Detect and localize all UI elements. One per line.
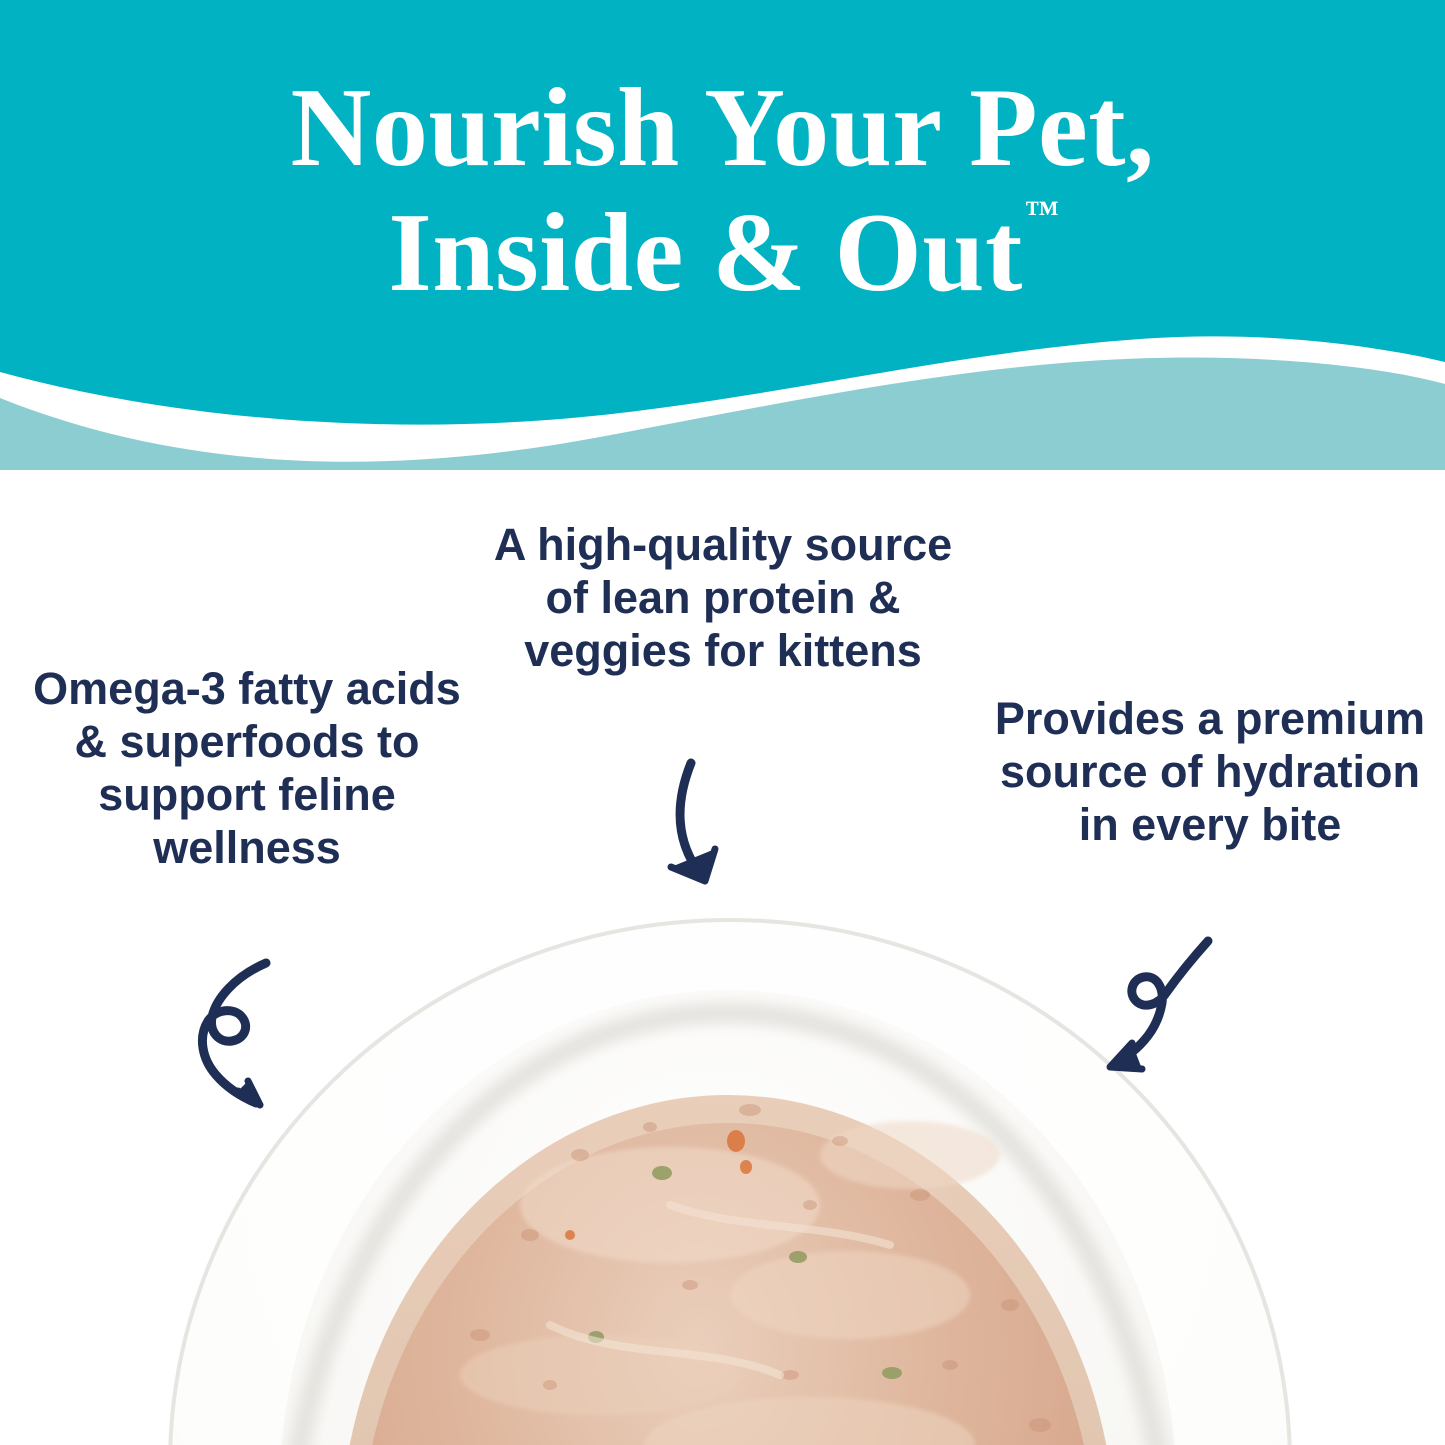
curly-arrow-down-right-icon [176,955,346,1110]
trademark-icon: ™ [1025,195,1059,232]
curly-arrow-down-left-icon [1070,935,1250,1080]
page-title: Nourish Your Pet, Inside & Out™ [0,66,1445,317]
marketing-infographic: Nourish Your Pet, Inside & Out™ [0,0,1445,1445]
callout-omega-3-text: Omega-3 fatty acids & superfoods to supp… [22,662,472,874]
callout-lean-protein-text: A high-quality source of lean protein & … [480,518,966,677]
headline-line-1: Nourish Your Pet, [290,66,1154,190]
headline-line-2: Inside & Out [388,191,1023,315]
header-banner: Nourish Your Pet, Inside & Out™ [0,0,1445,470]
callout-hydration-text: Provides a premium source of hydration i… [985,692,1435,851]
curved-arrow-down-icon [645,755,785,915]
